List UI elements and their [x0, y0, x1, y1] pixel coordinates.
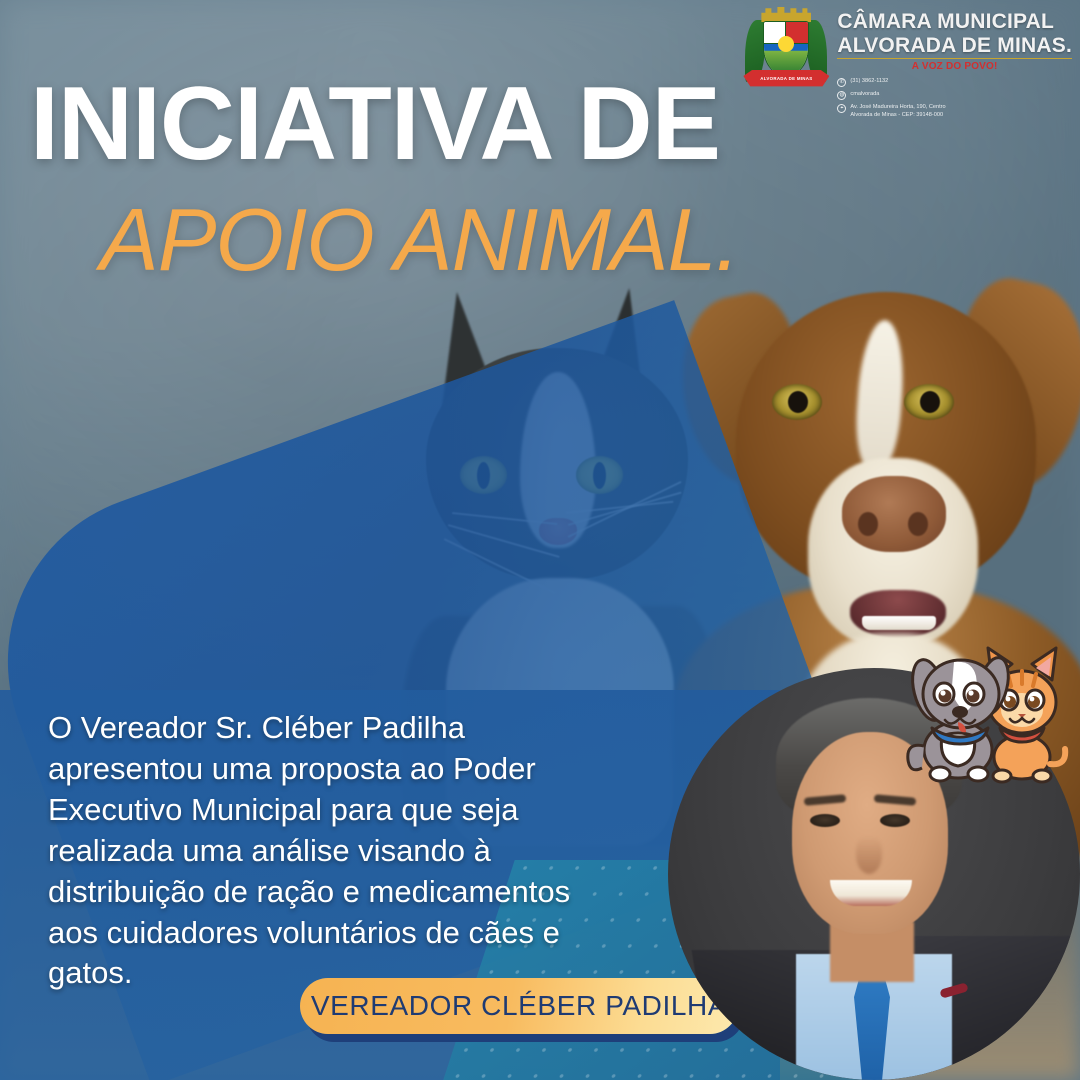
crest-shield	[763, 21, 809, 75]
headline-line-1: INICIATIVA DE	[30, 76, 720, 174]
globe-icon: ◍	[837, 91, 846, 100]
contact-address-block: Av. José Madureira Horta, 190, Centro Al…	[850, 103, 945, 120]
headline-line-2: APOIO ANIMAL.	[100, 196, 739, 284]
phone-icon: ✆	[837, 78, 846, 87]
org-name-line2: ALVORADA DE MINAS.	[837, 34, 1072, 60]
portrait-smile	[830, 880, 912, 906]
dog-eye-left	[772, 384, 822, 420]
portrait-eye-right	[880, 814, 910, 827]
contact-address-line1: Av. José Madureira Horta, 190, Centro	[850, 103, 945, 111]
dog-pupil-left	[788, 391, 808, 413]
contact-address-line2: Alvorada de Minas - CEP: 39148-000	[850, 111, 945, 119]
crest-mural-crown	[761, 6, 811, 22]
contact-row: ◍ cmalvorada	[837, 90, 1072, 100]
org-tagline: A VOZ DO POVO!	[837, 61, 1072, 72]
vereador-name-button[interactable]: VEREADOR CLÉBER PADILHA	[300, 978, 738, 1034]
logo-text-block: CÂMARA MUNICIPAL ALVORADA DE MINAS. A VO…	[837, 4, 1072, 120]
body-paragraph: O Vereador Sr. Cléber Padilha apresentou…	[48, 708, 588, 994]
coat-of-arms-icon: ALVORADA DE MINAS	[743, 4, 829, 96]
contact-phone: (31) 3862-1132	[850, 77, 888, 85]
dog-nostril-left	[858, 512, 878, 536]
contact-handle: cmalvorada	[850, 90, 879, 98]
cartoon-pets-illustration	[896, 624, 1072, 796]
dog-snout	[842, 476, 946, 552]
portrait-eye-left	[810, 814, 840, 827]
contact-row: ⌖ Av. José Madureira Horta, 190, Centro …	[837, 103, 1072, 120]
crest-sun	[778, 36, 794, 52]
contact-row: ✆ (31) 3862-1132	[837, 77, 1072, 87]
location-icon: ⌖	[837, 104, 846, 113]
crest-banner-label: ALVORADA DE MINAS	[760, 76, 812, 81]
org-name-line1: CÂMARA MUNICIPAL	[837, 10, 1072, 34]
body-text: O Vereador Sr. Cléber Padilha apresentou…	[48, 708, 588, 994]
portrait-nose	[856, 836, 882, 874]
dog-pupil-right	[920, 391, 940, 413]
poster-canvas: ALVORADA DE MINAS CÂMARA MUNICIPAL ALVOR…	[0, 0, 1080, 1080]
vereador-name-label: VEREADOR CLÉBER PADILHA	[311, 990, 727, 1022]
cartoon-pets-sticker	[896, 624, 1072, 796]
contact-list: ✆ (31) 3862-1132 ◍ cmalvorada ⌖ Av. José…	[837, 77, 1072, 120]
dog-nostril-right	[908, 512, 928, 536]
crest-banner: ALVORADA DE MINAS	[743, 68, 829, 88]
dog-eye-right	[904, 384, 954, 420]
header-logo: ALVORADA DE MINAS CÂMARA MUNICIPAL ALVOR…	[743, 4, 1072, 120]
